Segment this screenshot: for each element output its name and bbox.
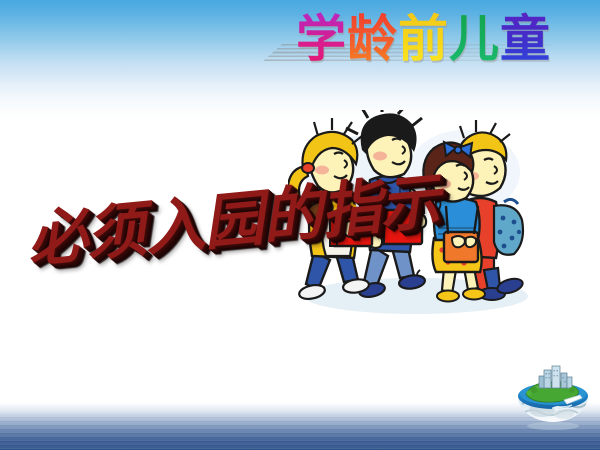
title-char-2: 龄 <box>347 8 398 70</box>
globe-logo <box>512 362 594 432</box>
title-char-3: 前 <box>398 8 449 70</box>
wordart-title: 学龄前儿童 <box>296 8 566 86</box>
title-char-1: 学 <box>296 8 347 70</box>
presentation-slide: 学龄前儿童 <box>0 0 600 450</box>
globe-logo-svg <box>512 362 594 432</box>
title-char-4: 儿 <box>449 8 500 70</box>
water-ripple-texture <box>0 416 600 450</box>
title-char-5: 童 <box>500 8 551 70</box>
background-water-band <box>0 402 600 450</box>
wordart-title-text: 学龄前儿童 <box>296 8 551 70</box>
